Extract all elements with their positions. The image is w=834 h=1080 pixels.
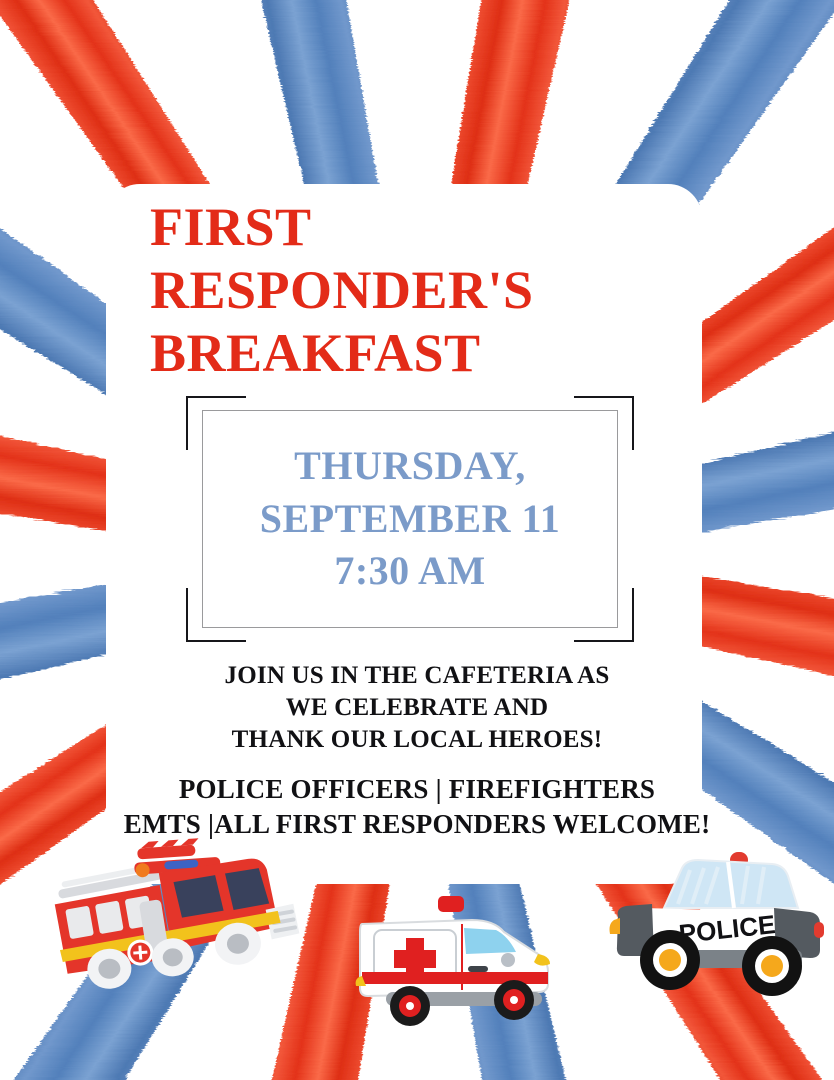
- date-line-3: 7:30 AM: [260, 545, 561, 598]
- ambulance-icon: [352, 880, 584, 1032]
- fire-truck-icon: [37, 829, 316, 1007]
- audience-text: POLICE OFFICERS | FIREFIGHTERS EMTS |ALL…: [0, 772, 834, 842]
- roles-line-1: POLICE OFFICERS | FIREFIGHTERS: [0, 772, 834, 807]
- page-title: FIRST RESPONDER'S BREAKFAST: [150, 196, 670, 386]
- date-line-1: THURSDAY,: [260, 440, 561, 493]
- event-datetime: THURSDAY, SEPTEMBER 11 7:30 AM: [260, 440, 561, 598]
- title-line-3: BREAKFAST: [150, 322, 670, 385]
- date-frame: THURSDAY, SEPTEMBER 11 7:30 AM: [186, 396, 634, 642]
- invitation-text: JOIN US IN THE CAFETERIA AS WE CELEBRATE…: [0, 660, 834, 755]
- roles-line-2: EMTS |ALL FIRST RESPONDERS WELCOME!: [0, 807, 834, 842]
- invite-line-1: JOIN US IN THE CAFETERIA AS: [0, 660, 834, 692]
- date-inner-border: THURSDAY, SEPTEMBER 11 7:30 AM: [202, 410, 618, 628]
- date-line-2: SEPTEMBER 11: [260, 493, 561, 546]
- title-line-2: RESPONDER'S: [150, 259, 670, 322]
- invite-line-2: WE CELEBRATE AND: [0, 692, 834, 724]
- flyer-canvas: FIRST RESPONDER'S BREAKFAST THURSDAY, SE…: [0, 0, 834, 1080]
- invite-line-3: THANK OUR LOCAL HEROES!: [0, 724, 834, 756]
- police-car-icon: POLICE: [608, 846, 824, 1002]
- title-line-1: FIRST: [150, 196, 670, 259]
